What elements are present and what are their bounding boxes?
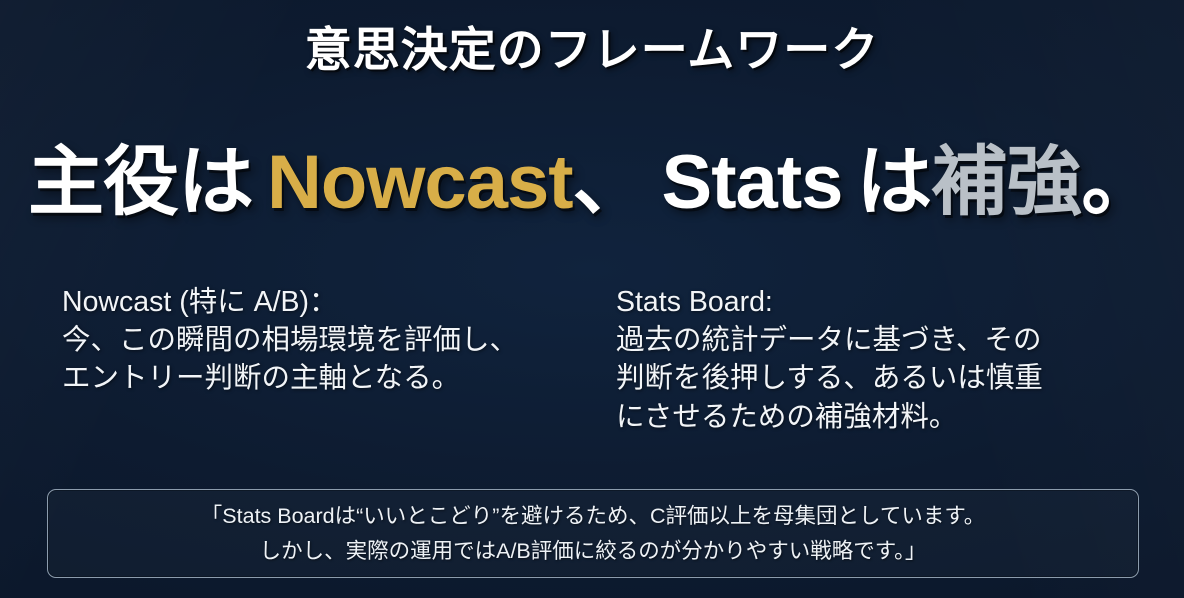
slide-headline: 主役はNowcast、Statsは補強。 [28,143,1156,223]
column-stats-board-line-2: 判断を後押しする、あるいは慎重 [616,359,1043,397]
headline-emphasis-stats: Stats [662,140,843,225]
column-stats-board-line-3: にさせるための補強材料。 [616,398,1043,436]
caption-line-2: しかし、実際の運用ではA/B評価に絞るのが分かりやすい戦略です。」 [260,534,927,569]
column-nowcast-line-1: 今、この瞬間の相場環境を評価し、 [62,321,518,359]
slide-canvas: 意思決定のフレームワーク 主役はNowcast、Statsは補強。 Nowcas… [0,0,1184,598]
slide-title: 意思決定のフレームワーク [0,11,1184,80]
column-nowcast: Nowcast (特に A/B)： 今、この瞬間の相場環境を評価し、 エントリー… [62,283,518,398]
column-stats-board-heading: Stats Board: [616,283,1043,321]
caption-line-1: 「Stats Boardは“いいとこどり”を避けるため、C評価以上を母集団として… [201,499,985,534]
headline-part-1: 主役は [28,140,253,225]
caption-box: 「Stats Boardは“いいとこどり”を避けるため、C評価以上を母集団として… [47,489,1139,578]
headline-part-4: 。 [1081,140,1156,225]
headline-muted-hokyo: 補強 [931,140,1081,225]
column-stats-board: Stats Board: 過去の統計データに基づき、その 判断を後押しする、ある… [616,283,1043,436]
column-nowcast-heading: Nowcast (特に A/B)： [62,283,518,321]
headline-part-3: は [856,140,931,225]
column-stats-board-line-1: 過去の統計データに基づき、その [616,321,1043,359]
headline-highlight-nowcast: Nowcast [267,140,573,225]
headline-part-2: 、 [573,140,648,225]
column-nowcast-line-2: エントリー判断の主軸となる。 [62,359,518,397]
